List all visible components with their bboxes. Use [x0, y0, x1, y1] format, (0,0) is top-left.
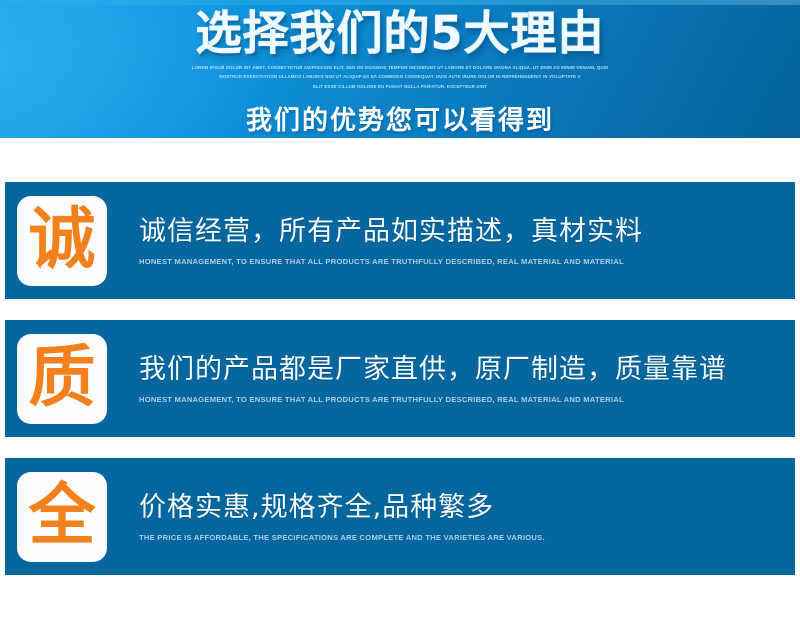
lorem-line: ELIT ESSE CILLUM DOLORE EU FUGIAT NULLA … [160, 82, 640, 92]
quality-icon-box: 质 [17, 334, 107, 424]
promo-header-banner: 选择我们的5大理由 LOREM IPSUM DOLOR SIT AMET, CO… [0, 0, 800, 138]
reason-title-cn: 价格实惠,规格齐全,品种繁多 [139, 491, 781, 525]
header-content: 选择我们的5大理由 LOREM IPSUM DOLOR SIT AMET, CO… [0, 9, 800, 137]
reason-card-text: 价格实惠,规格齐全,品种繁多 THE PRICE IS AFFORDABLE, … [107, 491, 795, 543]
reasons-list: 诚 诚信经营，所有产品如实描述，真材实料 HONEST MANAGEMENT, … [0, 182, 800, 575]
reason-title-cn: 我们的产品都是厂家直供，原厂制造，质量靠谱 [139, 353, 781, 387]
reason-card-text: 我们的产品都是厂家直供，原厂制造，质量靠谱 HONEST MANAGEMENT,… [107, 353, 795, 405]
integrity-icon-box: 诚 [17, 196, 107, 286]
reason-card: 全 价格实惠,规格齐全,品种繁多 THE PRICE IS AFFORDABLE… [5, 458, 795, 575]
complete-icon-box: 全 [17, 472, 107, 562]
reason-subtitle-en: HONEST MANAGEMENT, TO ENSURE THAT ALL PR… [139, 395, 781, 404]
lorem-line: LOREM IPSUM DOLOR SIT AMET, CONSECTETUR … [160, 63, 640, 73]
quality-icon: 质 [29, 344, 96, 411]
reason-subtitle-en: HONEST MANAGEMENT, TO ENSURE THAT ALL PR… [139, 257, 781, 266]
reason-card: 诚 诚信经营，所有产品如实描述，真材实料 HONEST MANAGEMENT, … [5, 182, 795, 299]
header-lorem-text: LOREM IPSUM DOLOR SIT AMET, CONSECTETUR … [160, 63, 640, 92]
complete-icon: 全 [29, 482, 96, 549]
reason-title-cn: 诚信经营，所有产品如实描述，真材实料 [139, 215, 781, 249]
page-subtitle: 我们的优势您可以看得到 [0, 100, 800, 137]
reason-card: 质 我们的产品都是厂家直供，原厂制造，质量靠谱 HONEST MANAGEMEN… [5, 320, 795, 437]
reason-subtitle-en: THE PRICE IS AFFORDABLE, THE SPECIFICATI… [139, 533, 781, 542]
integrity-icon: 诚 [29, 206, 96, 273]
page-title: 选择我们的5大理由 [0, 9, 800, 59]
reason-card-text: 诚信经营，所有产品如实描述，真材实料 HONEST MANAGEMENT, TO… [107, 215, 795, 267]
lorem-line: NOSTRUD EXERCITATION ULLAMCO LABORIS NIS… [160, 72, 640, 82]
